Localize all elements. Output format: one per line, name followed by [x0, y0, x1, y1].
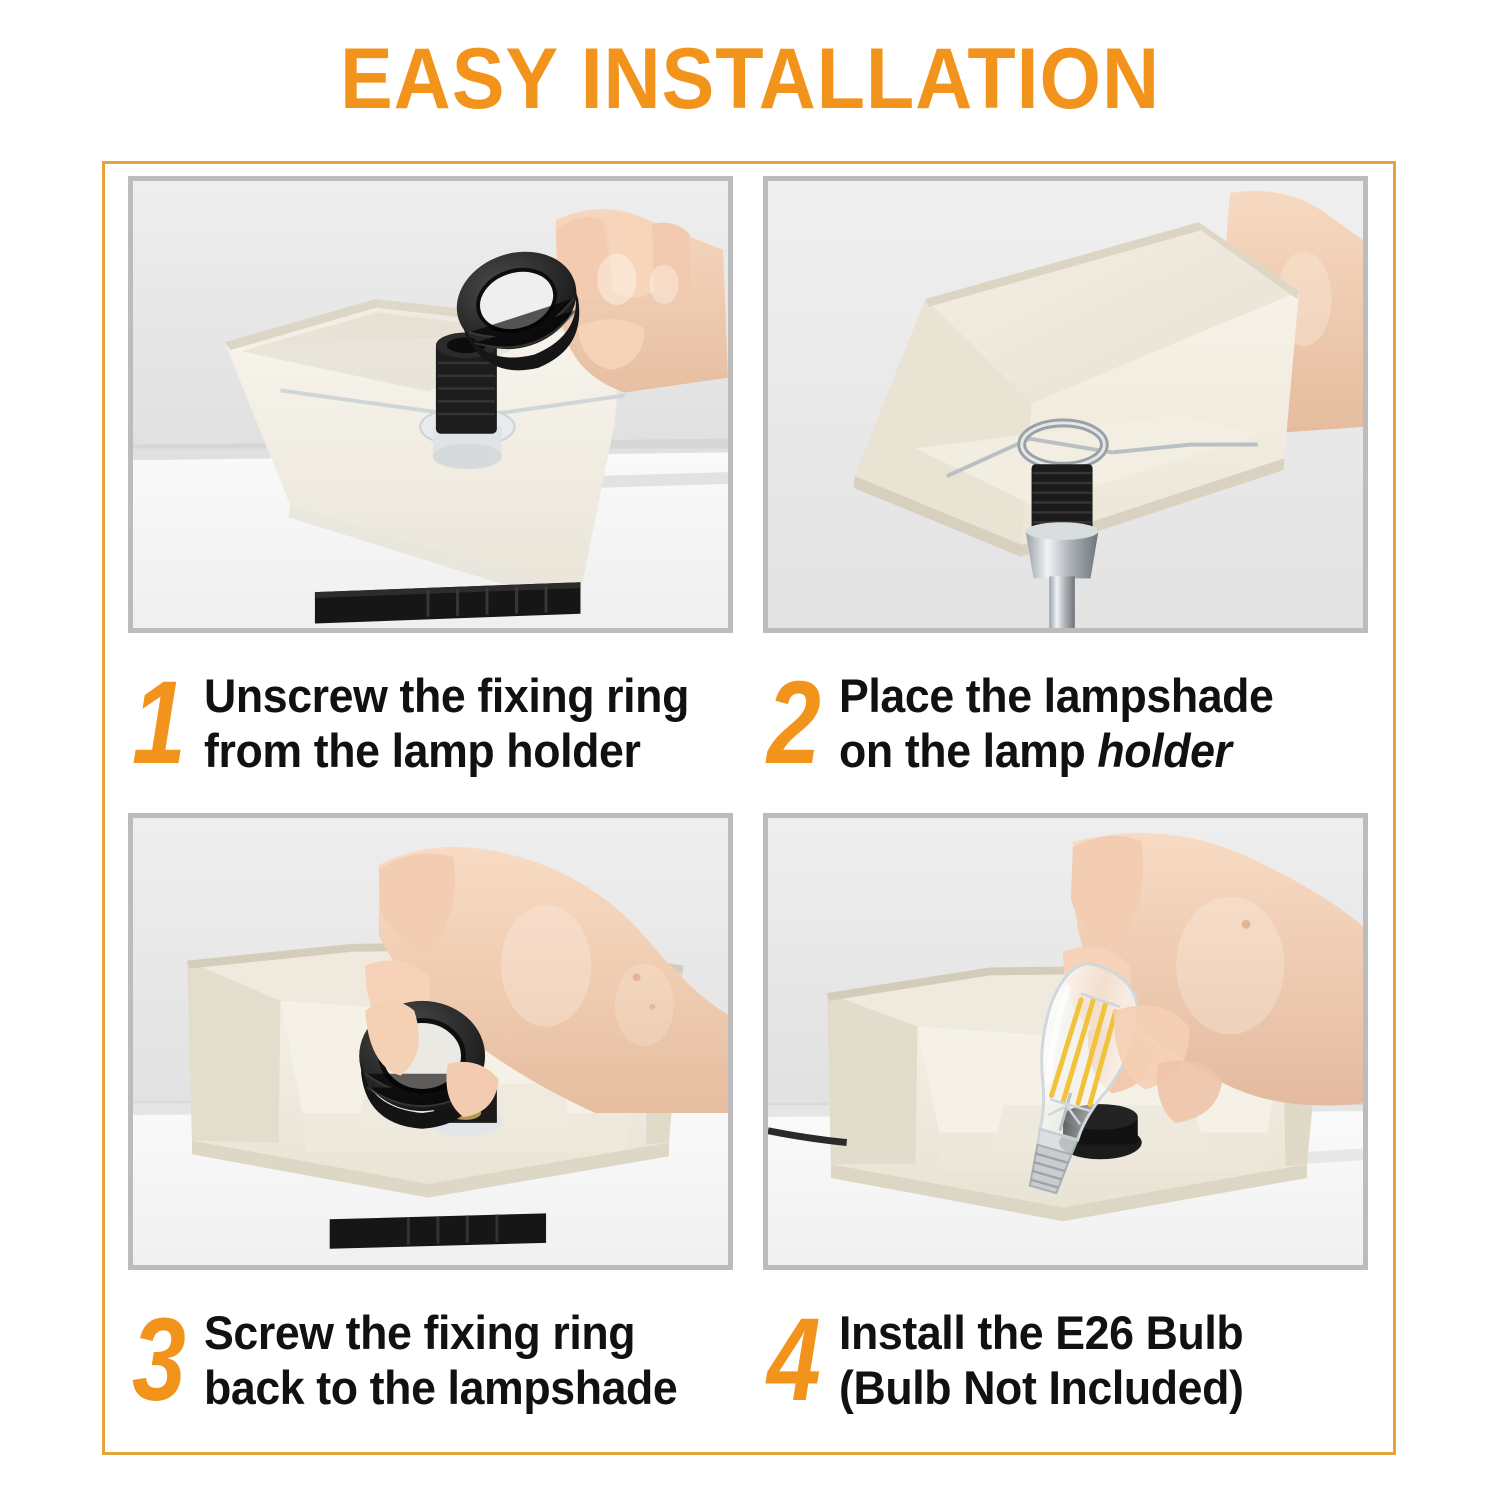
- step-2-line-2-emphasis: holder: [1097, 724, 1231, 777]
- step-1-illustration: [133, 181, 728, 630]
- step-3-caption: 3 Screw the fixing ring back to the lamp…: [128, 1270, 733, 1450]
- step-2-line-1: Place the lampshade: [839, 668, 1274, 723]
- step-1-photo: [128, 176, 733, 633]
- page-title: EASY INSTALLATION: [60, 30, 1440, 129]
- step-4-line-1: Install the E26 Bulb: [839, 1305, 1243, 1360]
- step-3-photo: [128, 813, 733, 1270]
- step-1-line-1: Unscrew the fixing ring: [204, 668, 689, 723]
- step-3-line-2: back to the lampshade: [204, 1360, 677, 1415]
- step-4-illustration: [768, 818, 1363, 1267]
- step-1-caption: 1 Unscrew the fixing ring from the lamp …: [128, 633, 733, 813]
- step-2-caption: 2 Place the lampshade on the lamp holder: [763, 633, 1368, 813]
- step-3-text: Screw the fixing ring back to the lampsh…: [204, 1305, 677, 1416]
- step-1-line-2: from the lamp holder: [204, 723, 689, 778]
- step-1-number: 1: [132, 670, 183, 776]
- step-4-text: Install the E26 Bulb (Bulb Not Included): [839, 1305, 1243, 1416]
- step-2-illustration: [768, 181, 1363, 630]
- step-2-text: Place the lampshade on the lamp holder: [839, 668, 1274, 779]
- step-1-text: Unscrew the fixing ring from the lamp ho…: [204, 668, 689, 779]
- step-4-photo: [763, 813, 1368, 1270]
- step-4-number: 4: [767, 1307, 818, 1413]
- step-4-caption: 4 Install the E26 Bulb (Bulb Not Include…: [763, 1270, 1368, 1450]
- installation-steps-grid: 1 Unscrew the fixing ring from the lamp …: [128, 176, 1368, 1442]
- step-3-line-1: Screw the fixing ring: [204, 1305, 677, 1360]
- step-2-line-2: on the lamp holder: [839, 723, 1274, 778]
- step-4-line-2: (Bulb Not Included): [839, 1360, 1243, 1415]
- step-3-number: 3: [132, 1307, 183, 1413]
- step-2-line-2-plain: on the lamp: [839, 724, 1097, 777]
- step-2-number: 2: [767, 670, 818, 776]
- step-3-illustration: [133, 818, 728, 1267]
- step-2-photo: [763, 176, 1368, 633]
